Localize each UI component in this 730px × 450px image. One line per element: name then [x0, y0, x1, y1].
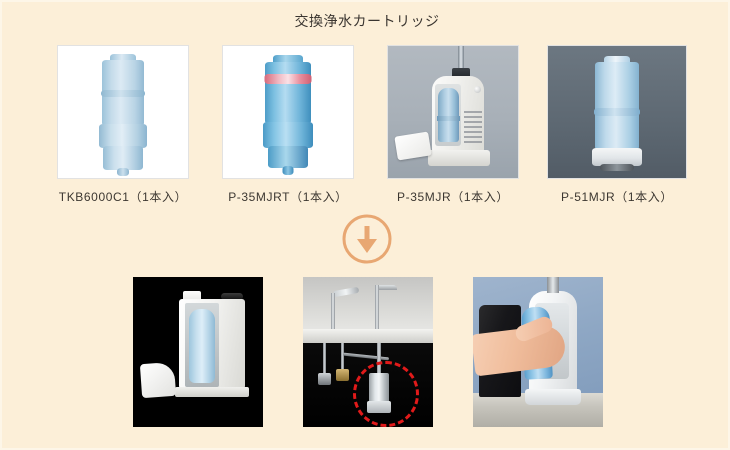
cartridge-label-band [265, 74, 312, 84]
open-purifier-unit-photo[interactable] [133, 277, 263, 427]
product-row: TKB6000C1（1本入） P-35MJRT（1本入） [2, 45, 730, 205]
page-title: 交換浄水カートリッジ [2, 11, 730, 31]
product-label-3: P-35MJR（1本入） [387, 190, 519, 204]
cartridge-tkb6000c1-photo [57, 45, 189, 179]
cartridge-p51mjr-photo [547, 45, 687, 179]
product-label-2: P-35MJRT（1本入） [222, 190, 354, 204]
under-sink-installation-photo[interactable] [303, 277, 433, 427]
installation-row [2, 277, 730, 427]
cartridge-p35mjrt-photo [222, 45, 354, 179]
cartridge-illustration [223, 46, 353, 178]
page-root: 交換浄水カートリッジ TKB6000C1（1本入） [0, 0, 730, 450]
product-cell-3[interactable]: P-35MJR（1本入） [387, 45, 519, 204]
product-label-4: P-51MJR（1本入） [547, 190, 687, 204]
product-label-1: TKB6000C1（1本入） [57, 190, 189, 204]
arrow-down-circle-icon [341, 213, 393, 265]
cartridge-illustration [58, 46, 188, 178]
screw-cap-icon [474, 86, 481, 93]
product-cell-4[interactable]: P-51MJR（1本入） [547, 45, 687, 204]
product-cell-1[interactable]: TKB6000C1（1本入） [57, 45, 189, 204]
cartridge-illustration [548, 46, 686, 178]
product-cell-2[interactable]: P-35MJRT（1本入） [222, 45, 354, 204]
removed-cover-panel [140, 362, 176, 398]
hand-inserting-cartridge-photo[interactable] [473, 277, 603, 427]
purifier-unit-p35mjr-photo [387, 45, 519, 179]
highlight-circle-annotation [353, 361, 419, 427]
